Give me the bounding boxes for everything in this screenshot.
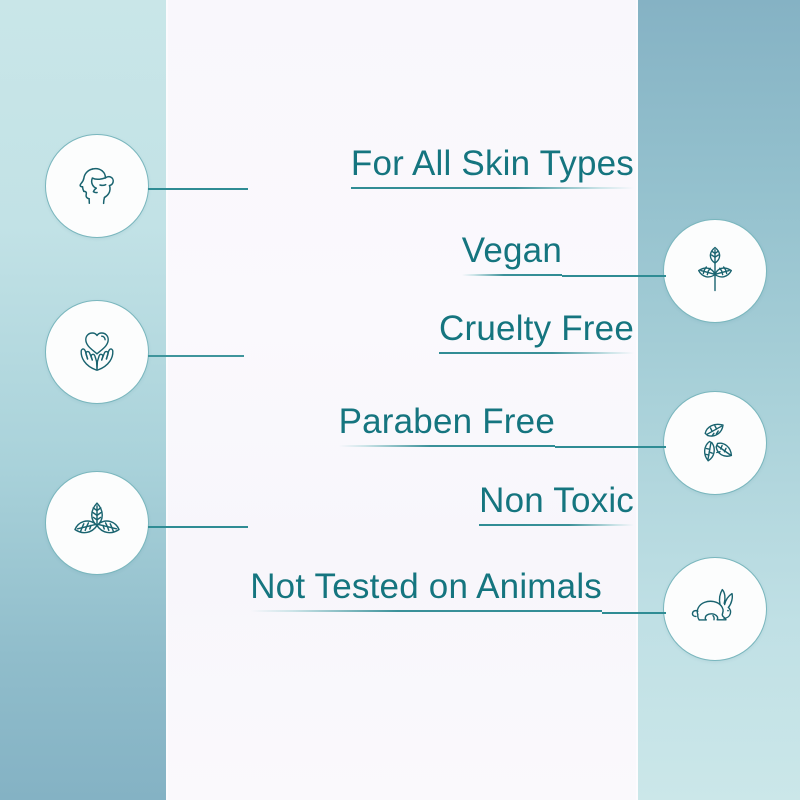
trefoil-leaf-icon — [67, 493, 127, 553]
three-leaf-recycle-icon — [686, 414, 744, 472]
claim-row-2: Vegan — [170, 232, 562, 276]
badge-paraben-free[interactable] — [663, 391, 767, 495]
connector-line-6 — [602, 612, 666, 614]
connector-line-5 — [148, 526, 248, 528]
claim-rule-2 — [462, 274, 562, 276]
badge-vegan[interactable] — [663, 219, 767, 323]
claim-label-4: Paraben Free — [339, 402, 555, 441]
claim-rule-3 — [439, 352, 634, 354]
background-panel-center — [166, 0, 638, 800]
badge-cruelty-free[interactable] — [45, 300, 149, 404]
claim-rule-6 — [250, 610, 602, 612]
claim-rule-5 — [479, 524, 634, 526]
claim-label-5: Non Toxic — [479, 481, 634, 520]
claim-row-6: Not Tested on Animals — [170, 568, 602, 612]
badge-not-tested-on-animals[interactable] — [663, 557, 767, 661]
claim-label-6: Not Tested on Animals — [250, 567, 602, 606]
claim-rule-1 — [351, 187, 634, 189]
connector-line-2 — [562, 275, 666, 277]
rabbit-icon — [684, 578, 746, 640]
connector-line-3 — [148, 355, 244, 357]
claim-label-2: Vegan — [462, 231, 562, 270]
claim-row-4: Paraben Free — [170, 403, 555, 447]
claim-label-3: Cruelty Free — [439, 309, 634, 348]
panel-edge-left — [166, 0, 168, 800]
claims-poster: For All Skin Types — [0, 0, 800, 800]
claim-rule-4 — [339, 445, 555, 447]
badge-for-all-skin-types[interactable] — [45, 134, 149, 238]
badge-non-toxic[interactable] — [45, 471, 149, 575]
claim-row-3: Cruelty Free — [170, 310, 634, 354]
claim-label-1: For All Skin Types — [351, 144, 634, 183]
claim-row-5: Non Toxic — [170, 482, 634, 526]
woman-face-profile-icon — [66, 155, 128, 217]
panel-edge-right — [636, 0, 638, 800]
connector-line-4 — [555, 446, 666, 448]
heart-in-hands-icon — [68, 323, 126, 381]
claim-row-1: For All Skin Types — [170, 145, 634, 189]
leaf-sprig-icon — [686, 242, 744, 300]
